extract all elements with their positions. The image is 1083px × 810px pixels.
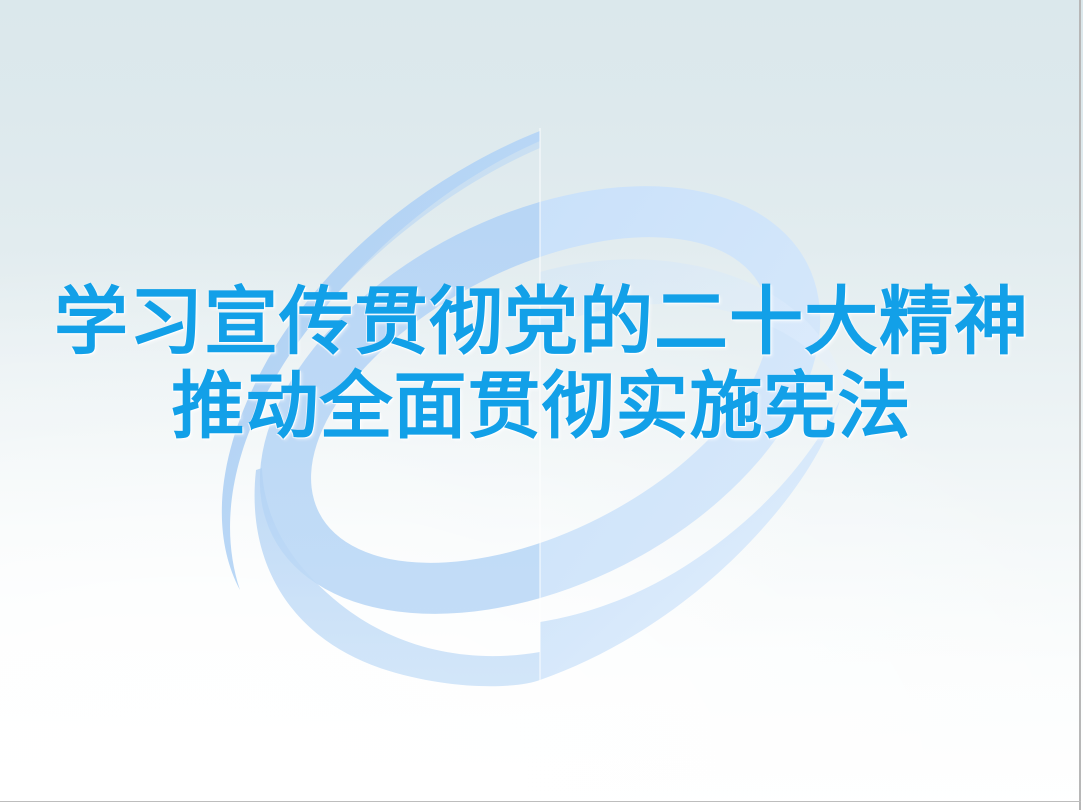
page-title: 学习宣传贯彻党的二十大精神 推动全面贯彻实施宪法: [0, 281, 1083, 449]
title-slide: 学习宣传贯彻党的二十大精神 推动全面贯彻实施宪法: [0, 0, 1083, 810]
slide-bottom-edge-line: [0, 801, 1081, 802]
title-line-2: 推动全面贯彻实施宪法: [0, 365, 1083, 449]
title-line-1: 学习宣传贯彻党的二十大精神: [0, 281, 1083, 365]
